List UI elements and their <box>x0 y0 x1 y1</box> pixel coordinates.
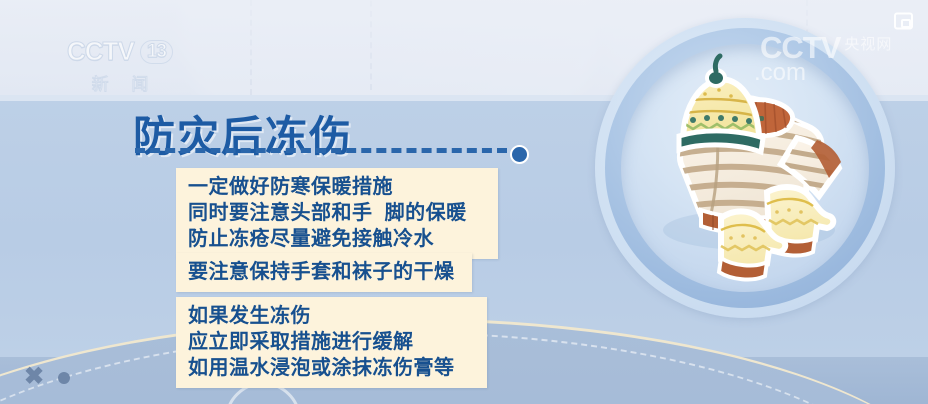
content-line: 要注意保持手套和袜子的干燥 <box>188 259 462 285</box>
content-line: 一定做好防寒保暖措施 <box>188 174 488 200</box>
cctv-channel-name: 新 闻 <box>83 70 158 95</box>
cctv-logo-row: CCTV 13 <box>67 36 173 67</box>
cctv-channel-number: 13 <box>140 40 173 64</box>
title-end-dot <box>510 145 529 164</box>
content-line: 防止冻疮尽量避免接触冷水 <box>188 226 488 252</box>
page-title: 防灾后冻伤 <box>133 103 353 164</box>
restore-window-icon[interactable] <box>894 12 914 30</box>
title-dashed-rule <box>135 148 507 153</box>
illustration-medallion <box>595 18 895 318</box>
content-line: 同时要注意头部和手 脚的保暖 <box>188 200 488 226</box>
content-line: 如用温水浸泡或涂抹冻伤膏等 <box>188 355 477 381</box>
broadcast-graphic: CCTV 13 新 闻 ✖ 防灾后冻伤 一定做好防寒保暖措施 同时要注意头部和手… <box>0 0 928 404</box>
winter-clothing-illustration <box>621 44 869 292</box>
cctv-wordmark: CCTV <box>67 36 134 67</box>
content-block: 如果发生冻伤 应立即采取措施进行缓解 如用温水浸泡或涂抹冻伤膏等 <box>176 297 487 388</box>
medallion-ring-inner <box>621 44 869 292</box>
content-block: 要注意保持手套和袜子的干燥 <box>176 253 472 292</box>
content-block: 一定做好防寒保暖措施 同时要注意头部和手 脚的保暖 防止冻疮尽量避免接触冷水 <box>176 168 498 259</box>
content-line: 应立即采取措施进行缓解 <box>188 329 477 355</box>
decorative-dot <box>58 372 70 384</box>
content-line: 如果发生冻伤 <box>188 303 477 329</box>
cctv-channel-logo: CCTV 13 新 闻 <box>50 36 190 94</box>
snowflake-icon: ✖ <box>24 366 46 388</box>
